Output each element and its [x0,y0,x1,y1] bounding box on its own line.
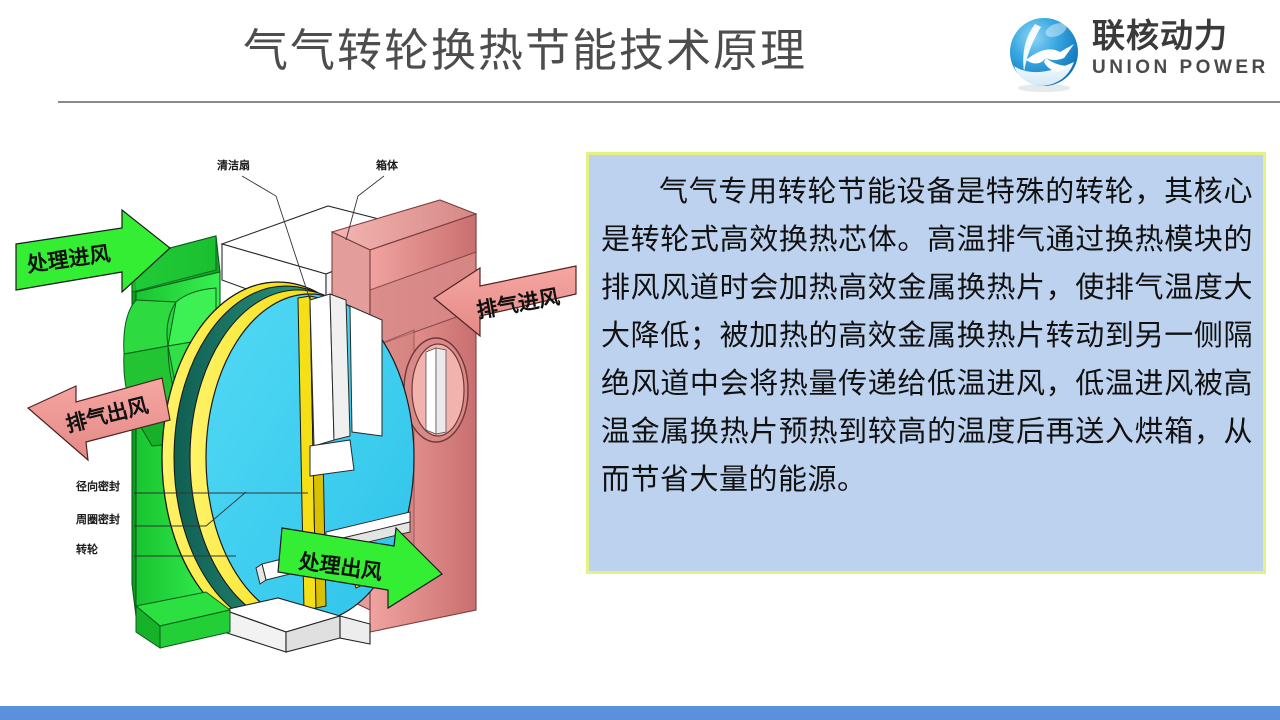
globe-swoosh-logo-icon [1004,14,1084,94]
page-title: 气气转轮换热节能技术原理 [60,22,990,80]
logo-name-cn: 联核动力 [1092,18,1272,54]
exhaust-port-opening [404,338,468,442]
callout-label-radial-seal: 径向密封 [76,479,120,493]
footer-accent-bar [0,706,1280,720]
logo-wordmark: 联核动力 UNION POWER [1092,18,1272,90]
slide-header: 气气转轮换热节能技术原理 [0,0,1280,104]
company-logo: 联核动力 UNION POWER [1004,10,1272,94]
callout-label-circumferential-seal: 周圈密封 [76,512,120,526]
logo-name-en: UNION POWER [1092,56,1272,80]
rotary-heat-exchanger-cutaway-diagram: 清洁扇 箱体 径向密封 周圈密封 转轮 处理进风 排气进风 排气出风 [10,140,582,660]
callout-label-clean-fan: 清洁扇 [217,158,250,172]
callout-label-casing: 箱体 [376,158,399,172]
callout-label-rotor-wheel: 转轮 [76,542,98,556]
description-panel: 气气专用转轮节能设备是特殊的转轮，其核心是转轮式高效换热芯体。高温排气通过换热模… [586,152,1266,574]
slide-root: 气气转轮换热节能技术原理 [0,0,1280,720]
header-divider [58,101,1280,103]
description-paragraph: 气气专用转轮节能设备是特殊的转轮，其核心是转轮式高效换热芯体。高温排气通过换热模… [589,155,1263,511]
